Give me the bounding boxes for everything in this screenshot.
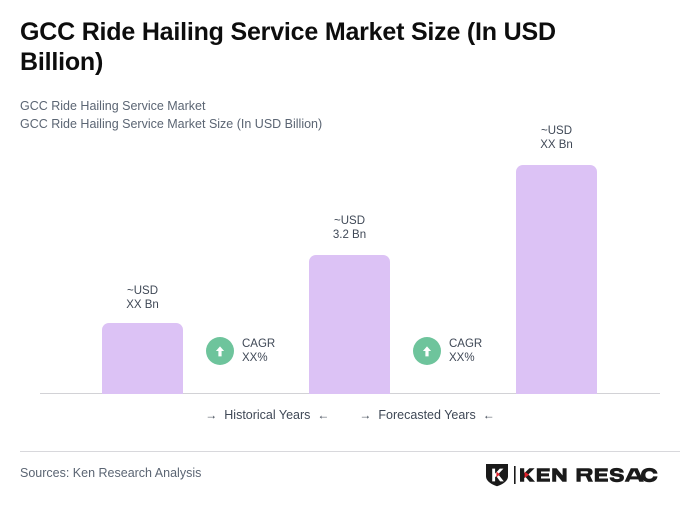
bar-chart-plot: ~USD XX Bn CAGR XX% ~USD 3.2 Bn <box>0 0 700 400</box>
footer-divider <box>20 451 680 452</box>
bar-historical[interactable] <box>102 323 183 394</box>
cagr-badge-2[interactable]: CAGR XX% <box>413 337 482 365</box>
cagr-badge-1[interactable]: CAGR XX% <box>206 337 275 365</box>
arrow-up-icon <box>206 337 234 365</box>
bar-label-3-line-1: ~USD <box>516 124 597 138</box>
legend-item-historical-years-label: Historical Years <box>224 408 310 422</box>
bar-label-1: ~USD XX Bn <box>102 284 183 312</box>
legend-item-historical-years[interactable]: → Historical Years ← <box>205 408 329 422</box>
chart-page: GCC Ride Hailing Service Market Size (In… <box>0 0 700 520</box>
bar-label-2-line-2: 3.2 Bn <box>309 228 390 242</box>
arrow-right-icon: → <box>359 409 371 421</box>
cagr-badge-2-line-2: XX% <box>449 351 482 365</box>
sources-text: Sources: Ken Research Analysis <box>20 466 201 480</box>
arrow-right-icon: → <box>205 409 217 421</box>
bar-forecasted[interactable] <box>516 165 597 394</box>
cagr-badge-1-line-2: XX% <box>242 351 275 365</box>
bar-forecast-start[interactable] <box>309 255 390 394</box>
cagr-badge-2-line-1: CAGR <box>449 337 482 351</box>
bar-label-1-line-2: XX Bn <box>102 298 183 312</box>
bar-label-2-line-1: ~USD <box>309 214 390 228</box>
bar-label-3: ~USD XX Bn <box>516 124 597 152</box>
cagr-badge-1-line-1: CAGR <box>242 337 275 351</box>
bar-label-3-line-2: XX Bn <box>516 138 597 152</box>
bar-label-1-line-1: ~USD <box>102 284 183 298</box>
chart-legend: → Historical Years ← → Forecasted Years … <box>0 408 700 422</box>
cagr-badge-1-text: CAGR XX% <box>242 337 275 365</box>
cagr-badge-2-text: CAGR XX% <box>449 337 482 365</box>
legend-item-forecasted-years-label: Forecasted Years <box>378 408 475 422</box>
arrow-up-icon <box>413 337 441 365</box>
ken-research-logo <box>484 463 660 487</box>
arrow-left-icon: ← <box>483 409 495 421</box>
arrow-left-icon: ← <box>317 409 329 421</box>
legend-item-forecasted-years[interactable]: → Forecasted Years ← <box>359 408 494 422</box>
bar-label-2: ~USD 3.2 Bn <box>309 214 390 242</box>
